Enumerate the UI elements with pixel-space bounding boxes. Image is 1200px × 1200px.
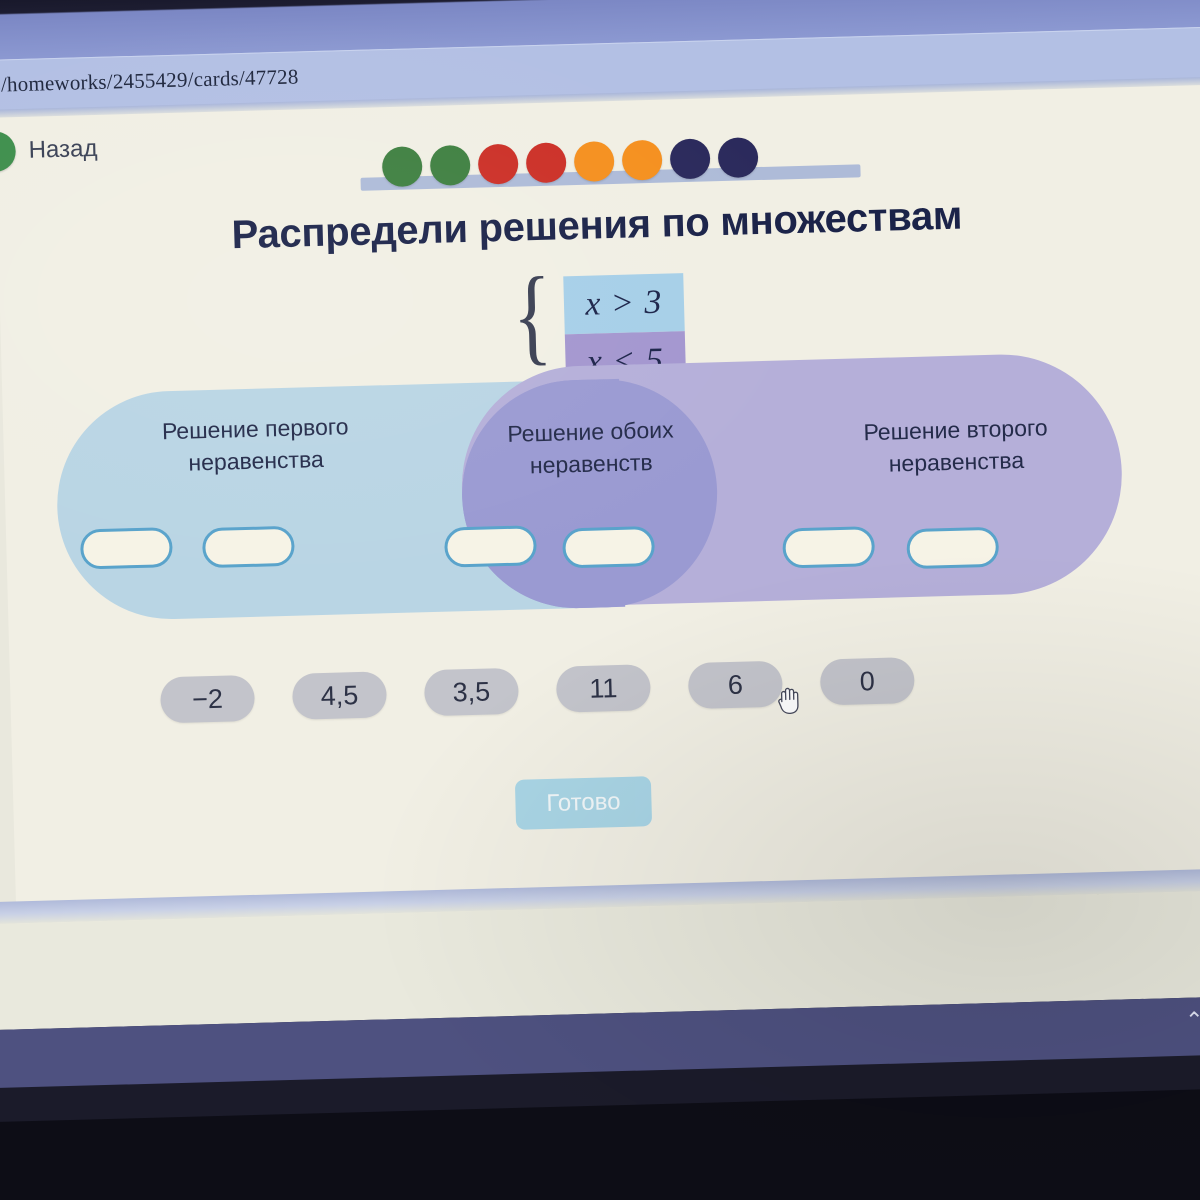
region-label-both: Решение обоих неравенств xyxy=(455,412,727,483)
drop-slot-first-2[interactable] xyxy=(202,526,295,568)
progress-dot-3 xyxy=(478,144,519,185)
drop-slot-second-1[interactable] xyxy=(782,526,875,568)
answer-token-3[interactable]: 3,5 xyxy=(424,668,519,717)
venn-diagram: Решение первого неравенства Решение обои… xyxy=(54,351,1126,635)
back-button[interactable]: ‹ Назад xyxy=(0,129,98,172)
drop-slot-first-1[interactable] xyxy=(80,527,173,569)
region-both-inequalities[interactable] xyxy=(459,376,720,611)
progress-dot-8 xyxy=(718,137,759,178)
progress-dot-5 xyxy=(574,141,615,182)
progress-dot-4 xyxy=(526,142,567,183)
chevron-up-icon[interactable]: ⌃ xyxy=(1185,1009,1200,1031)
drop-slot-both-1[interactable] xyxy=(444,525,537,567)
answer-token-6[interactable]: 0 xyxy=(820,657,915,706)
done-button-label: Готово xyxy=(546,788,621,818)
answer-token-2[interactable]: 4,5 xyxy=(292,671,387,720)
back-button-label: Назад xyxy=(28,135,97,165)
answer-token-1[interactable]: −2 xyxy=(160,675,255,724)
system-tray[interactable]: ⌃ xyxy=(1185,1008,1200,1031)
photo-of-screen: nts/homeworks/2455429/cards/47728 ‹ Наза… xyxy=(0,0,1200,1200)
answer-token-4[interactable]: 11 xyxy=(556,664,651,713)
region-label-first: Решение первого неравенства xyxy=(95,408,417,481)
progress-dot-6 xyxy=(622,140,663,181)
monitor-screen: nts/homeworks/2455429/cards/47728 ‹ Наза… xyxy=(0,0,1200,1123)
answer-token-5[interactable]: 6 xyxy=(688,661,783,710)
back-arrow-icon: ‹ xyxy=(0,131,16,172)
drop-slot-second-2[interactable] xyxy=(906,527,999,569)
progress-dot-7 xyxy=(670,138,711,179)
done-button[interactable]: Готово xyxy=(515,776,652,830)
drop-slot-both-2[interactable] xyxy=(562,526,655,568)
inequality-first: x > 3 xyxy=(563,273,685,334)
progress-dot-2 xyxy=(430,145,471,186)
address-bar-url: nts/homeworks/2455429/cards/47728 xyxy=(0,64,299,98)
progress-dot-1 xyxy=(382,146,423,187)
region-label-second: Решение второго неравенства xyxy=(795,409,1117,482)
